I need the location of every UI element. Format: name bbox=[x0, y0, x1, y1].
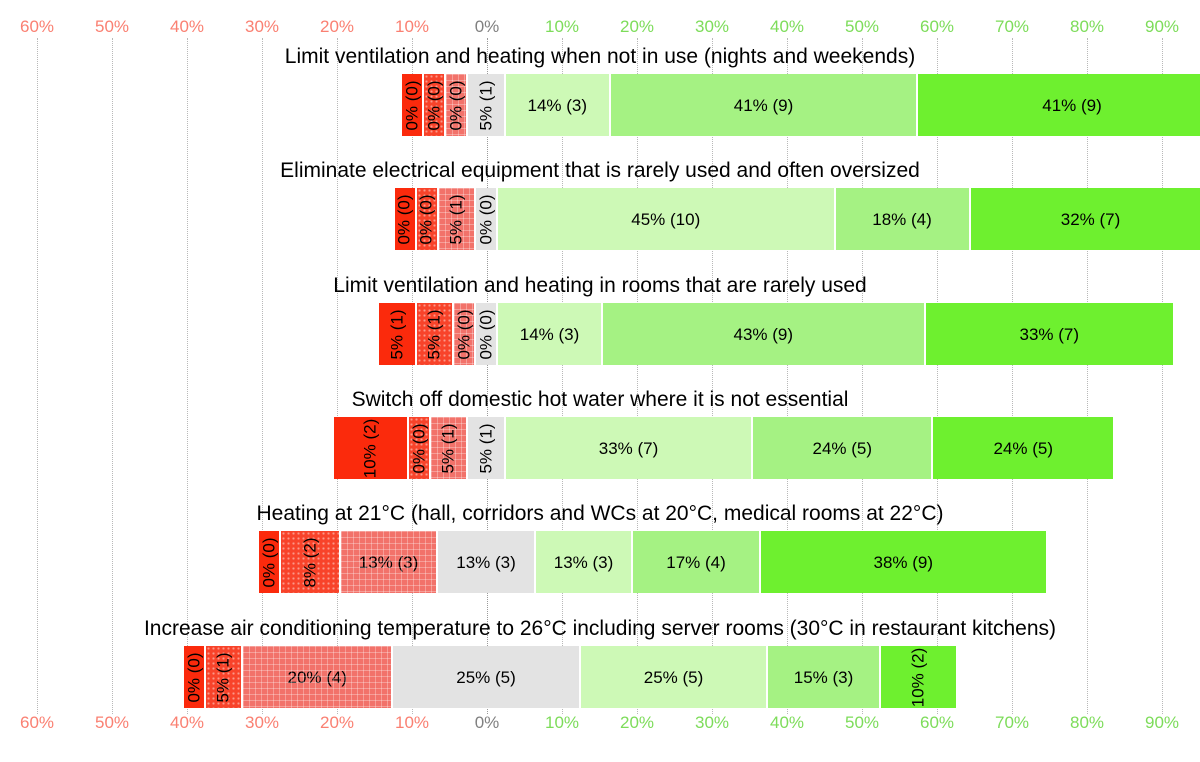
top-axis-tick-label: 70% bbox=[995, 16, 1029, 38]
bottom-axis-tick-label: 90% bbox=[1145, 712, 1179, 734]
gridline bbox=[1087, 38, 1089, 714]
top-axis-tick-label: 10% bbox=[395, 16, 429, 38]
row-title: Eliminate electrical equipment that is r… bbox=[0, 158, 1200, 184]
bar-segment: 0% (0) bbox=[395, 188, 417, 250]
bar-segment: 0% (0) bbox=[402, 74, 424, 136]
segment-value-label: 32% (7) bbox=[1061, 211, 1121, 228]
bar-segment: 0% (0) bbox=[184, 646, 206, 708]
top-axis-tick-label: 80% bbox=[1070, 16, 1104, 38]
bar-segment: 5% (1) bbox=[431, 417, 469, 479]
bar-segment: 33% (7) bbox=[506, 417, 754, 479]
top-axis-tick-label: 40% bbox=[770, 16, 804, 38]
segment-value-label: 5% (1) bbox=[478, 80, 495, 130]
bottom-axis-tick-label: 30% bbox=[695, 712, 729, 734]
segment-value-label: 5% (1) bbox=[426, 309, 443, 359]
bar-segment: 13% (3) bbox=[536, 531, 634, 593]
segment-value-label: 5% (1) bbox=[440, 423, 457, 473]
segment-value-label: 20% (4) bbox=[287, 669, 347, 686]
bottom-axis-tick-label: 10% bbox=[545, 712, 579, 734]
segment-value-label: 41% (9) bbox=[734, 97, 794, 114]
bar-segment: 0% (0) bbox=[424, 74, 446, 136]
segment-value-label: 33% (7) bbox=[599, 440, 659, 457]
segment-value-label: 18% (4) bbox=[872, 211, 932, 228]
segment-value-label: 38% (9) bbox=[873, 554, 933, 571]
bar-segment: 24% (5) bbox=[933, 417, 1113, 479]
row-title: Increase air conditioning temperature to… bbox=[0, 616, 1200, 642]
segment-value-label: 0% (0) bbox=[410, 423, 427, 473]
bar-segment: 0% (0) bbox=[454, 303, 476, 365]
gridline bbox=[562, 38, 564, 714]
segment-value-label: 0% (0) bbox=[478, 309, 495, 359]
chart-row: Limit ventilation and heating when not i… bbox=[0, 44, 1200, 136]
segment-value-label: 0% (0) bbox=[418, 194, 435, 244]
segment-value-label: 10% (2) bbox=[910, 647, 927, 707]
gridline bbox=[637, 38, 639, 714]
bar-segment: 33% (7) bbox=[926, 303, 1174, 365]
gridline bbox=[187, 38, 189, 714]
diverging-stacked-bar-chart: 60%50%40%30%20%10%0%10%20%30%40%50%60%70… bbox=[0, 0, 1200, 762]
gridline bbox=[487, 38, 489, 714]
bar-segment: 5% (1) bbox=[417, 303, 455, 365]
gridline bbox=[337, 38, 339, 714]
segment-value-label: 0% (0) bbox=[260, 537, 277, 587]
gridline bbox=[862, 38, 864, 714]
top-axis-tick-label: 0% bbox=[475, 16, 500, 38]
bar-segment: 0% (0) bbox=[476, 303, 498, 365]
bar-segment: 20% (4) bbox=[243, 646, 393, 708]
bottom-axis-tick-label: 60% bbox=[20, 712, 54, 734]
gridline bbox=[937, 38, 939, 714]
bottom-axis-tick-label: 80% bbox=[1070, 712, 1104, 734]
top-axis-tick-label: 60% bbox=[20, 16, 54, 38]
segment-value-label: 0% (0) bbox=[456, 309, 473, 359]
bar-segment: 41% (9) bbox=[611, 74, 919, 136]
segment-value-label: 14% (3) bbox=[520, 326, 580, 343]
segment-value-label: 41% (9) bbox=[1042, 97, 1102, 114]
bar-segment: 25% (5) bbox=[581, 646, 769, 708]
bar-segment: 13% (3) bbox=[438, 531, 536, 593]
stacked-bar: 5% (1)5% (1)0% (0)0% (0)14% (3)43% (9)33… bbox=[379, 303, 1173, 365]
bar-segment: 14% (3) bbox=[498, 303, 603, 365]
bar-segment: 5% (1) bbox=[468, 417, 506, 479]
top-axis-tick-label: 20% bbox=[620, 16, 654, 38]
gridline bbox=[37, 38, 39, 714]
segment-value-label: 0% (0) bbox=[396, 194, 413, 244]
bar-segment: 18% (4) bbox=[836, 188, 971, 250]
segment-value-label: 15% (3) bbox=[794, 669, 854, 686]
bar-segment: 10% (2) bbox=[334, 417, 409, 479]
bar-segment: 0% (0) bbox=[446, 74, 468, 136]
segment-value-label: 13% (3) bbox=[359, 554, 419, 571]
bar-segment: 24% (5) bbox=[753, 417, 933, 479]
top-axis-tick-label: 50% bbox=[95, 16, 129, 38]
top-axis: 60%50%40%30%20%10%0%10%20%30%40%50%60%70… bbox=[0, 16, 1200, 38]
bar-segment: 8% (2) bbox=[281, 531, 341, 593]
bar-segment: 15% (3) bbox=[768, 646, 881, 708]
bar-segment: 0% (0) bbox=[409, 417, 431, 479]
segment-value-label: 25% (5) bbox=[644, 669, 704, 686]
top-axis-tick-label: 90% bbox=[1145, 16, 1179, 38]
gridline bbox=[112, 38, 114, 714]
bottom-axis-tick-label: 50% bbox=[95, 712, 129, 734]
segment-value-label: 0% (0) bbox=[478, 194, 495, 244]
chart-row: Limit ventilation and heating in rooms t… bbox=[0, 273, 1200, 365]
segment-value-label: 0% (0) bbox=[404, 80, 421, 130]
gridline bbox=[412, 38, 414, 714]
bottom-axis-tick-label: 10% bbox=[395, 712, 429, 734]
bottom-axis-tick-label: 40% bbox=[170, 712, 204, 734]
bottom-axis-tick-label: 70% bbox=[995, 712, 1029, 734]
segment-value-label: 14% (3) bbox=[527, 97, 587, 114]
bar-segment: 5% (1) bbox=[439, 188, 477, 250]
top-axis-tick-label: 30% bbox=[695, 16, 729, 38]
segment-value-label: 24% (5) bbox=[993, 440, 1053, 457]
segment-value-label: 5% (1) bbox=[215, 652, 232, 702]
bar-segment: 0% (0) bbox=[476, 188, 498, 250]
stacked-bar: 0% (0)0% (0)0% (0)5% (1)14% (3)41% (9)41… bbox=[402, 74, 1200, 136]
segment-value-label: 5% (1) bbox=[478, 423, 495, 473]
bar-segment: 0% (0) bbox=[259, 531, 281, 593]
bottom-axis-tick-label: 20% bbox=[620, 712, 654, 734]
bar-segment: 13% (3) bbox=[341, 531, 439, 593]
segment-value-label: 10% (2) bbox=[362, 418, 379, 478]
gridline bbox=[712, 38, 714, 714]
segment-value-label: 5% (1) bbox=[448, 194, 465, 244]
bottom-axis: 60%50%40%30%20%10%0%10%20%30%40%50%60%70… bbox=[0, 712, 1200, 734]
segment-value-label: 0% (0) bbox=[426, 80, 443, 130]
bar-segment: 41% (9) bbox=[918, 74, 1200, 136]
segment-value-label: 13% (3) bbox=[554, 554, 614, 571]
stacked-bar: 10% (2)0% (0)5% (1)5% (1)33% (7)24% (5)2… bbox=[334, 417, 1114, 479]
gridline bbox=[1012, 38, 1014, 714]
segment-value-label: 0% (0) bbox=[448, 80, 465, 130]
bar-segment: 32% (7) bbox=[971, 188, 1200, 250]
segment-value-label: 43% (9) bbox=[733, 326, 793, 343]
gridline bbox=[787, 38, 789, 714]
bar-segment: 14% (3) bbox=[506, 74, 611, 136]
segment-value-label: 45% (10) bbox=[631, 211, 700, 228]
bottom-axis-tick-label: 40% bbox=[770, 712, 804, 734]
bar-segment: 10% (2) bbox=[881, 646, 956, 708]
segment-value-label: 24% (5) bbox=[812, 440, 872, 457]
bottom-axis-tick-label: 60% bbox=[920, 712, 954, 734]
bottom-axis-tick-label: 20% bbox=[320, 712, 354, 734]
row-title: Heating at 21°C (hall, corridors and WCs… bbox=[0, 501, 1200, 527]
segment-value-label: 8% (2) bbox=[301, 537, 318, 587]
bottom-axis-tick-label: 30% bbox=[245, 712, 279, 734]
row-title: Limit ventilation and heating when not i… bbox=[0, 44, 1200, 70]
bar-segment: 38% (9) bbox=[761, 531, 1046, 593]
top-axis-tick-label: 50% bbox=[845, 16, 879, 38]
bar-segment: 5% (1) bbox=[468, 74, 506, 136]
stacked-bar: 0% (0)8% (2)13% (3)13% (3)13% (3)17% (4)… bbox=[259, 531, 1046, 593]
top-axis-tick-label: 30% bbox=[245, 16, 279, 38]
row-title: Switch off domestic hot water where it i… bbox=[0, 387, 1200, 413]
bottom-axis-tick-label: 50% bbox=[845, 712, 879, 734]
bar-segment: 5% (1) bbox=[379, 303, 417, 365]
gridline bbox=[262, 38, 264, 714]
chart-row: Switch off domestic hot water where it i… bbox=[0, 387, 1200, 479]
row-title: Limit ventilation and heating in rooms t… bbox=[0, 273, 1200, 299]
segment-value-label: 25% (5) bbox=[456, 669, 516, 686]
bar-segment: 17% (4) bbox=[633, 531, 761, 593]
stacked-bar: 0% (0)0% (0)5% (1)0% (0)45% (10)18% (4)3… bbox=[395, 188, 1200, 250]
chart-row: Increase air conditioning temperature to… bbox=[0, 616, 1200, 708]
bottom-axis-tick-label: 0% bbox=[475, 712, 500, 734]
bar-segment: 45% (10) bbox=[498, 188, 836, 250]
gridline bbox=[1162, 38, 1164, 714]
top-axis-tick-label: 10% bbox=[545, 16, 579, 38]
chart-row: Eliminate electrical equipment that is r… bbox=[0, 158, 1200, 250]
segment-value-label: 13% (3) bbox=[456, 554, 516, 571]
top-axis-tick-label: 20% bbox=[320, 16, 354, 38]
top-axis-tick-label: 60% bbox=[920, 16, 954, 38]
bar-segment: 5% (1) bbox=[206, 646, 244, 708]
segment-value-label: 5% (1) bbox=[388, 309, 405, 359]
bar-segment: 43% (9) bbox=[603, 303, 926, 365]
top-axis-tick-label: 40% bbox=[170, 16, 204, 38]
segment-value-label: 33% (7) bbox=[1019, 326, 1079, 343]
chart-row: Heating at 21°C (hall, corridors and WCs… bbox=[0, 501, 1200, 593]
bar-segment: 0% (0) bbox=[417, 188, 439, 250]
segment-value-label: 0% (0) bbox=[185, 652, 202, 702]
stacked-bar: 0% (0)5% (1)20% (4)25% (5)25% (5)15% (3)… bbox=[184, 646, 956, 708]
segment-value-label: 17% (4) bbox=[666, 554, 726, 571]
bar-segment: 25% (5) bbox=[393, 646, 581, 708]
